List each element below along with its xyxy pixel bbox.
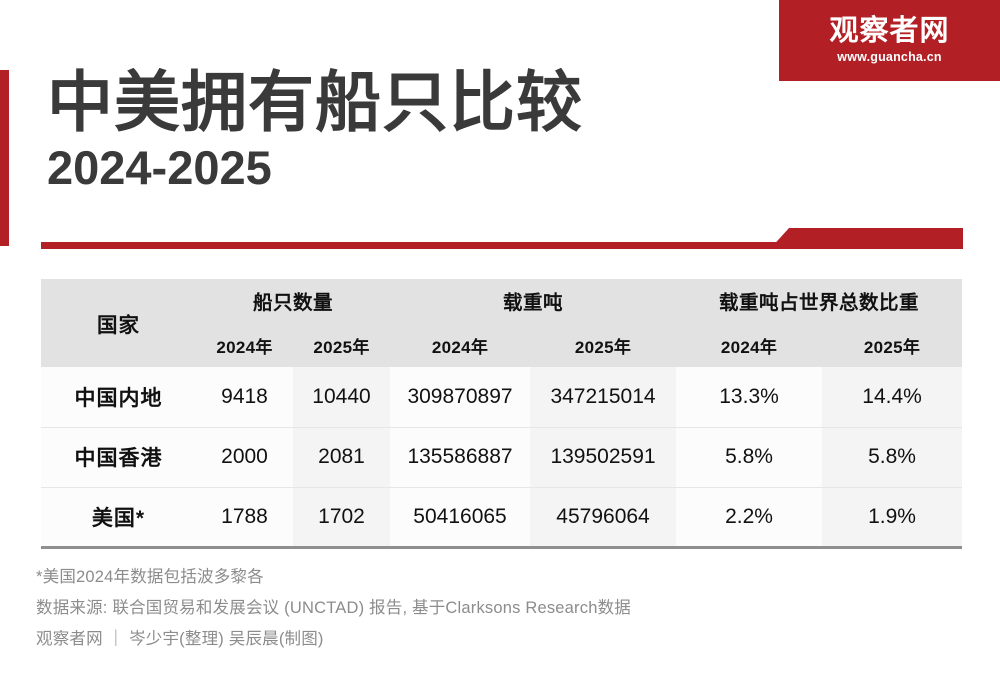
table-header-group-row: 国家 船只数量 载重吨 载重吨占世界总数比重 (41, 279, 962, 323)
brand-url: www.guancha.cn (837, 51, 941, 64)
table-body: 中国内地 9418 10440 309870897 347215014 13.3… (41, 367, 962, 547)
left-accent-bar (0, 70, 9, 246)
cell-dwt-2025: 139502591 (530, 427, 676, 487)
cell-country: 中国内地 (41, 367, 196, 427)
brand-logo-block: 观察者网 www.guancha.cn (779, 0, 1000, 81)
cell-ships-2025: 1702 (293, 487, 390, 547)
table-row: 中国香港 2000 2081 135586887 139502591 5.8% … (41, 427, 962, 487)
cell-dwt-2025: 45796064 (530, 487, 676, 547)
cell-country: 美国* (41, 487, 196, 547)
footnote-us-data-note: *美国2024年数据包括波多黎各 (36, 562, 936, 593)
cell-ships-2024: 1788 (196, 487, 293, 547)
page-subtitle: 2024-2025 (47, 143, 747, 192)
cell-share-2025: 1.9% (822, 487, 962, 547)
column-header-ships-2024: 2024年 (196, 323, 293, 367)
table-row: 中国内地 9418 10440 309870897 347215014 13.3… (41, 367, 962, 427)
cell-dwt-2024: 135586887 (390, 427, 530, 487)
cell-share-2025: 14.4% (822, 367, 962, 427)
column-group-deadweight-tonnage: 载重吨 (390, 279, 676, 323)
column-header-country: 国家 (41, 279, 196, 367)
cell-dwt-2024: 50416065 (390, 487, 530, 547)
cell-country: 中国香港 (41, 427, 196, 487)
divider-accent-wedge (770, 228, 963, 249)
column-header-ships-2025: 2025年 (293, 323, 390, 367)
column-header-share-2025: 2025年 (822, 323, 962, 367)
column-header-dwt-2024: 2024年 (390, 323, 530, 367)
cell-ships-2024: 2000 (196, 427, 293, 487)
footnotes-block: *美国2024年数据包括波多黎各 数据来源: 联合国贸易和发展会议 (UNCTA… (36, 562, 936, 655)
column-group-world-share: 载重吨占世界总数比重 (676, 279, 962, 323)
cell-share-2024: 13.3% (676, 367, 822, 427)
title-block: 中美拥有船只比较 2024-2025 (47, 68, 747, 192)
brand-name-cn: 观察者网 (829, 17, 949, 46)
column-header-share-2024: 2024年 (676, 323, 822, 367)
cell-share-2025: 5.8% (822, 427, 962, 487)
data-table-container: 国家 船只数量 载重吨 载重吨占世界总数比重 2024年 2025年 2024年… (41, 279, 962, 549)
footnote-data-source: 数据来源: 联合国贸易和发展会议 (UNCTAD) 报告, 基于Clarkson… (36, 593, 936, 624)
table-row: 美国* 1788 1702 50416065 45796064 2.2% 1.9… (41, 487, 962, 547)
divider-rule (41, 242, 786, 249)
column-group-ship-count: 船只数量 (196, 279, 390, 323)
cell-share-2024: 5.8% (676, 427, 822, 487)
cell-share-2024: 2.2% (676, 487, 822, 547)
cell-ships-2025: 10440 (293, 367, 390, 427)
table-header: 国家 船只数量 载重吨 载重吨占世界总数比重 2024年 2025年 2024年… (41, 279, 962, 367)
cell-dwt-2024: 309870897 (390, 367, 530, 427)
cell-ships-2025: 2081 (293, 427, 390, 487)
cell-ships-2024: 9418 (196, 367, 293, 427)
footnote-credits: 观察者网 ｜ 岑少宇(整理) 吴辰晨(制图) (36, 624, 936, 655)
cell-dwt-2025: 347215014 (530, 367, 676, 427)
page-title: 中美拥有船只比较 (47, 68, 747, 137)
ship-comparison-table: 国家 船只数量 载重吨 载重吨占世界总数比重 2024年 2025年 2024年… (41, 279, 962, 549)
column-header-dwt-2025: 2025年 (530, 323, 676, 367)
